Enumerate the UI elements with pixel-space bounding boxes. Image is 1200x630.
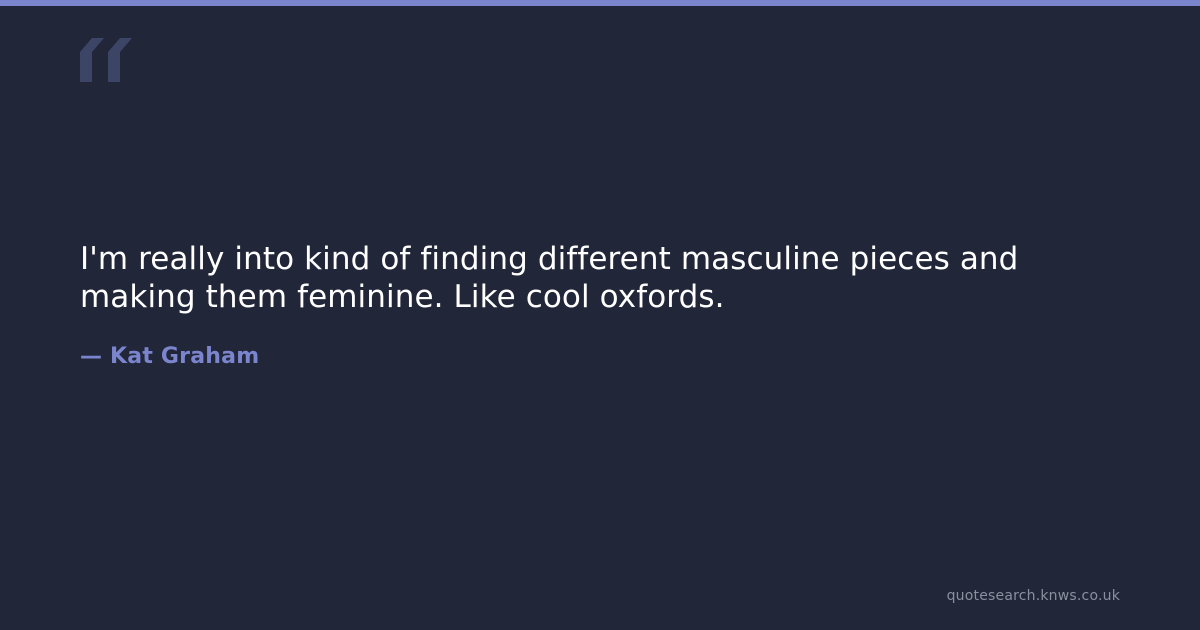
top-accent-bar <box>0 0 1200 6</box>
quote-card: I'm really into kind of finding differen… <box>0 0 1200 630</box>
double-quote-icon <box>80 38 132 82</box>
quote-author: — Kat Graham <box>80 316 1120 369</box>
site-watermark: quotesearch.knws.co.uk <box>947 588 1120 604</box>
quote-content: I'm really into kind of finding differen… <box>80 240 1120 369</box>
quote-text: I'm really into kind of finding differen… <box>80 240 1120 316</box>
